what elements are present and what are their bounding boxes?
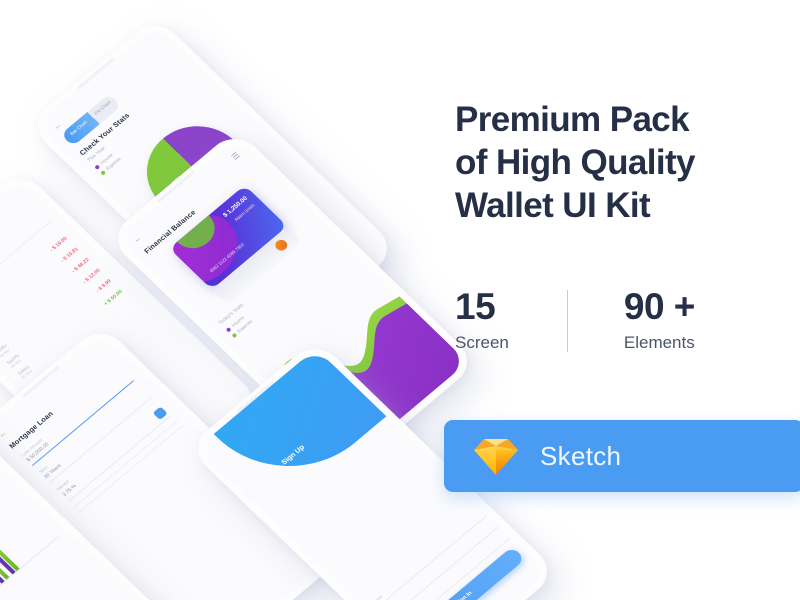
toggle-active-label: Bar Chart xyxy=(69,120,88,137)
phone-mockup-cluster: ← Bar Chart Pie Chart Check Your Stats T… xyxy=(0,0,420,600)
marketing-panel: Premium Pack of High Quality Wallet UI K… xyxy=(452,0,800,600)
transaction-amount: - $ 9.99 xyxy=(95,278,113,293)
stat-label: Elements xyxy=(624,333,695,353)
legend-dot-expense xyxy=(100,170,106,175)
stat-screens: 15 Screen xyxy=(455,288,509,353)
menu-icon[interactable]: ☰ xyxy=(231,151,243,161)
back-arrow-icon[interactable]: ← xyxy=(132,234,144,245)
headline-line-3: Wallet UI Kit xyxy=(455,184,800,227)
legend-dot-expense xyxy=(231,332,237,337)
stat-number: 90 + xyxy=(624,288,695,325)
stats-row: 15 Screen 90 + Elements xyxy=(455,288,695,353)
sketch-diamond-icon xyxy=(474,436,518,476)
bar-group xyxy=(0,533,20,575)
toggle-inactive-label: Pie Chart xyxy=(93,100,112,116)
promo-stage: ← Bar Chart Pie Chart Check Your Stats T… xyxy=(0,0,800,600)
signup-title: Sign Up xyxy=(280,444,306,466)
sketch-label: Sketch xyxy=(540,441,621,472)
transaction-amount: + $ 50.00 xyxy=(103,289,124,307)
page-title: Premium Pack of High Quality Wallet UI K… xyxy=(455,98,800,227)
headline-line-1: Premium Pack xyxy=(455,98,800,141)
legend-dot-income xyxy=(225,327,231,332)
stat-number: 15 xyxy=(455,288,509,325)
stats-divider xyxy=(567,290,568,352)
stat-label: Screen xyxy=(455,333,509,353)
mastercard-icon xyxy=(273,238,290,253)
headline-line-2: of High Quality xyxy=(455,141,800,184)
sketch-button[interactable]: Sketch xyxy=(444,420,800,492)
bar-chart xyxy=(0,492,59,600)
field-underline xyxy=(69,416,171,502)
legend-dot-income xyxy=(94,164,100,169)
stat-elements: 90 + Elements xyxy=(624,288,695,353)
